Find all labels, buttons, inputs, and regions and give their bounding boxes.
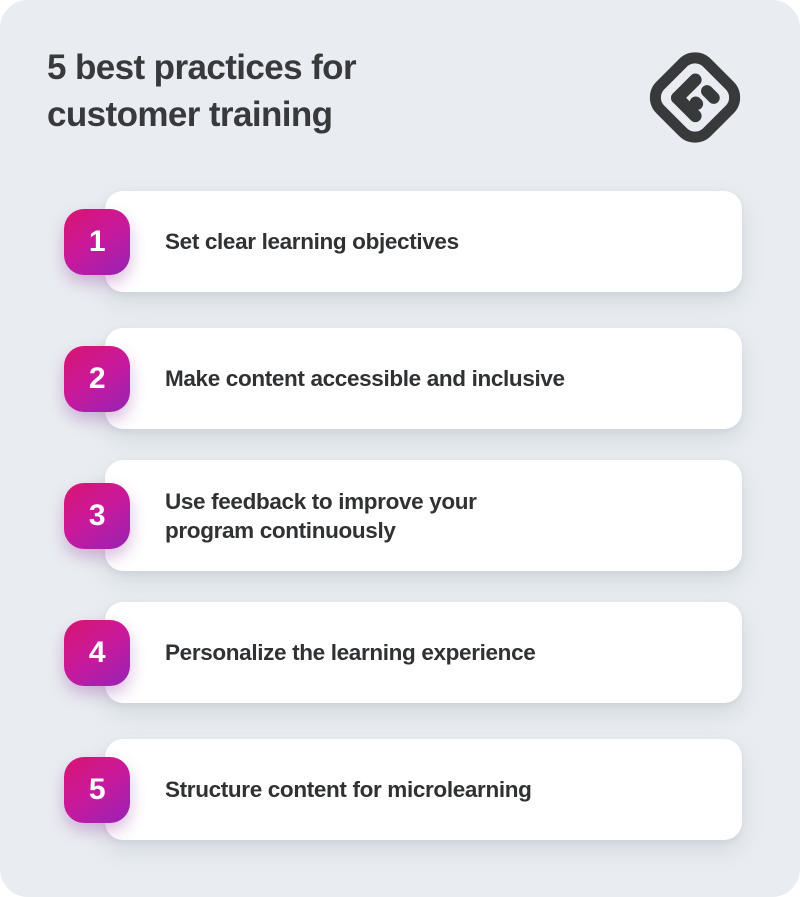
practice-label: Use feedback to improve your program con… (165, 460, 718, 571)
page-title: 5 best practices for customer training (47, 44, 517, 138)
practice-number-badge: 2 (64, 346, 130, 412)
list-item[interactable]: Personalize the learning experience 4 (0, 583, 800, 720)
header: 5 best practices for customer training (0, 0, 800, 172)
practice-label: Structure content for microlearning (165, 739, 718, 840)
practice-number-badge: 4 (64, 620, 130, 686)
practice-number-badge: 5 (64, 757, 130, 823)
practice-number-badge: 3 (64, 483, 130, 549)
practice-label: Personalize the learning experience (165, 602, 718, 703)
practice-card[interactable]: Use feedback to improve your program con… (105, 460, 742, 571)
practice-card[interactable]: Personalize the learning experience (105, 602, 742, 703)
infographic-canvas: 5 best practices for customer training S… (0, 0, 800, 897)
list-item[interactable]: Make content accessible and inclusive 2 (0, 309, 800, 446)
practice-label: Set clear learning objectives (165, 191, 718, 292)
practice-card[interactable]: Structure content for microlearning (105, 739, 742, 840)
brand-logo-icon (645, 45, 745, 150)
practice-number-badge: 1 (64, 209, 130, 275)
list-item[interactable]: Use feedback to improve your program con… (0, 446, 800, 583)
list-item[interactable]: Set clear learning objectives 1 (0, 172, 800, 309)
practice-list: Set clear learning objectives 1 Make con… (0, 172, 800, 857)
list-item[interactable]: Structure content for microlearning 5 (0, 720, 800, 857)
practice-label: Make content accessible and inclusive (165, 328, 718, 429)
practice-card[interactable]: Make content accessible and inclusive (105, 328, 742, 429)
practice-card[interactable]: Set clear learning objectives (105, 191, 742, 292)
